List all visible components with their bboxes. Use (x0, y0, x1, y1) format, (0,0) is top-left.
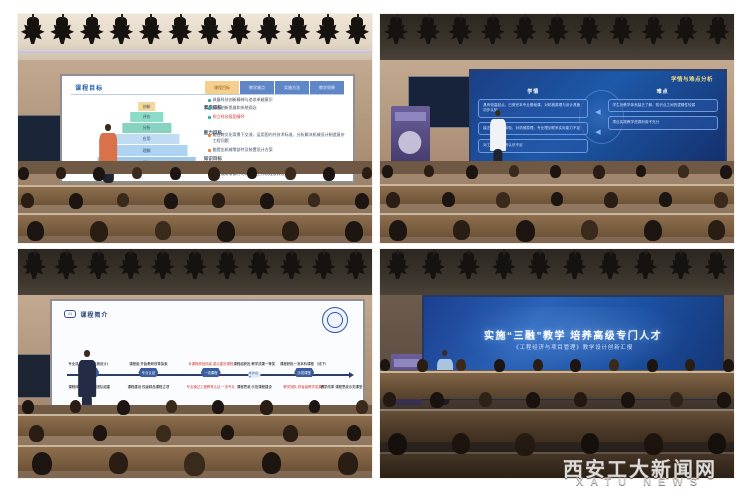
audience-head (22, 400, 34, 414)
stage-light-icon (421, 252, 446, 281)
audience-head (323, 167, 335, 181)
timeline-node: 专业认证 (138, 368, 158, 377)
audience-head (56, 167, 66, 179)
audience-head (347, 425, 361, 441)
audience-head (593, 165, 605, 179)
audience-head (355, 193, 369, 209)
stage-light-icon (609, 17, 634, 46)
stage-light-icon (480, 17, 505, 46)
slide-tab-0: 课程目标 (205, 81, 239, 95)
presenter-head (495, 110, 500, 116)
audience-head (442, 192, 455, 207)
audience-head (494, 359, 505, 372)
photo-top-left: 课程目标 课程目标 教学难点 实施方法 教学效果 创新 评价 分析 应 (18, 14, 372, 243)
slide-tab-3: 教学效果 (310, 81, 344, 95)
audience-head (262, 452, 281, 474)
stage-light-icon (448, 17, 473, 46)
presenter-body (78, 360, 96, 397)
ceiling-light-row (380, 252, 734, 289)
stage-light-icon (183, 252, 208, 281)
stage-light-icon (668, 252, 693, 281)
audience-head (164, 193, 178, 209)
slide-main-title: 实施“三融”教学 培养高级专门人才 (424, 327, 721, 342)
audience-head-row (18, 425, 372, 442)
audience-head (382, 165, 393, 178)
audience-head (570, 359, 581, 372)
stage-light-icon (20, 17, 45, 46)
slide-title: 课程目标 (71, 83, 103, 92)
stage-light-icon (79, 17, 104, 46)
audience-head (533, 359, 543, 371)
audience-head-row (18, 221, 372, 242)
audience-head (90, 221, 108, 242)
audience-head (29, 425, 44, 442)
audience-head (466, 165, 478, 179)
audience-head-row (18, 193, 372, 209)
timeline-caption-above: 课程获批一流本科课程 （线下） (274, 362, 334, 367)
timeline-node: 教学改革 (248, 372, 261, 378)
timeline-caption-below: 课程建设 校级精品课程立项 (118, 385, 178, 390)
bullet-item: 培养创新思维和系统观念 (208, 105, 347, 111)
audience-head (456, 359, 466, 371)
stage-light-icon (562, 252, 587, 281)
bullet-text: 树立科技报国情怀 (213, 114, 245, 120)
slide-title: 课程简介 (80, 310, 108, 319)
stage-light-icon (456, 252, 481, 281)
audience-head (170, 167, 181, 180)
stage-light-icon (118, 252, 143, 281)
audience-head-row (380, 192, 734, 208)
stage-light-icon (150, 252, 175, 281)
lectern (391, 106, 430, 166)
audience-head (260, 193, 274, 209)
audience-head (496, 192, 510, 208)
timeline-node: 一流课程 (201, 368, 221, 377)
audience-head (21, 193, 34, 208)
photo-bottom-left: 01 课程简介 课程开设 专业认证 一流课程 教学改革 示范课堂 专业成立 开设… (18, 249, 372, 478)
audience-head (647, 359, 658, 372)
audience-head-row (18, 167, 372, 181)
stage-light-icon (247, 252, 272, 281)
audience-head (720, 165, 732, 179)
stage-light-icon (197, 17, 222, 46)
slide-subtitle: 《工程经济与项目管理》教学设计创新汇报 (424, 343, 721, 351)
audience-head (70, 400, 81, 413)
stage-light-icon (345, 17, 370, 46)
timeline-arrow-icon (349, 372, 354, 378)
stage-light-icon (673, 17, 698, 46)
audience-area (18, 165, 372, 243)
audience-head (551, 192, 563, 206)
audience-head (212, 193, 225, 208)
ceiling (18, 14, 372, 60)
ceiling-light-row (18, 252, 372, 289)
audience-head (723, 359, 734, 372)
audience-head (184, 452, 205, 476)
stage-light-icon (384, 17, 409, 46)
ceiling-light-row (380, 17, 734, 54)
photo-top-right: 学情与难点分析 学情 具有较高起点，已修完本专业基础课，对机械原理与设计具备初步… (380, 14, 734, 243)
stage-light-icon (168, 17, 193, 46)
column-heading: 学情 (478, 88, 588, 95)
audience-head (708, 220, 725, 240)
audience-head (117, 400, 130, 415)
stage-light-icon (705, 17, 730, 46)
audience-area (18, 400, 372, 478)
audience-head (550, 165, 561, 178)
stage-light-icon (279, 252, 304, 281)
audience-head (132, 167, 142, 179)
audience-head-row (18, 400, 372, 415)
audience-head (453, 220, 470, 240)
audience-head (659, 192, 672, 207)
slide-tab-2: 实施方法 (275, 81, 309, 95)
audience-head (714, 192, 728, 208)
stage-light-icon (704, 252, 729, 281)
slide-title: 学情与难点分析 (671, 75, 713, 83)
led-screen: 学情与难点分析 学情 具有较高起点，已修完本专业基础课，对机械原理与设计具备初步… (469, 69, 728, 165)
timeline-caption-below: 教学改革 课程思政示范课堂 (312, 385, 366, 390)
column-heading: 难点 (608, 88, 718, 95)
ceiling (18, 249, 372, 295)
audience-head (166, 400, 177, 413)
audience-head (644, 220, 662, 241)
stage-light-icon (256, 17, 281, 46)
audience-head (604, 192, 618, 208)
section-badge: 01 (64, 310, 76, 318)
stage-light-icon (54, 252, 79, 281)
ceiling-rail (18, 50, 372, 53)
photo-vignette (380, 373, 734, 478)
stage-light-icon (598, 252, 623, 281)
audience-head (260, 400, 273, 415)
audience-head (217, 221, 235, 242)
stage-light-icon (215, 252, 240, 281)
university-logo-icon (322, 307, 348, 333)
timeline-caption-above: 课程组 开始教研改革探索 (118, 362, 178, 367)
slide-learner-analysis: 学情与难点分析 学情 具有较高起点，已修完本专业基础课，对机械原理与设计具备初步… (478, 75, 718, 159)
audience-head (18, 167, 29, 180)
presenter-head (84, 350, 90, 357)
stage-light-icon (545, 17, 570, 46)
audience-head (32, 452, 52, 475)
stage-light-icon (138, 17, 163, 46)
audience-head (247, 167, 257, 179)
stage-light-icon (109, 17, 134, 46)
stage-light-icon (527, 252, 552, 281)
stage-light-icon (315, 17, 340, 46)
stage-light-icon (311, 252, 336, 281)
audience-head-row (18, 452, 372, 476)
bullet-item: 树立科技报国情怀 (208, 114, 347, 120)
stage-light-icon (286, 17, 311, 46)
stage-light-icon (491, 252, 516, 281)
audience-head (308, 193, 320, 207)
audience-head (509, 165, 519, 177)
slide-tab-strip: 课程目标 教学难点 实施方法 教学效果 (205, 81, 344, 95)
audience-head (309, 400, 320, 413)
audience-head (516, 220, 535, 242)
audience-area (380, 165, 734, 243)
audience-head-row (380, 220, 734, 242)
audience-head-row (380, 359, 734, 372)
audience-head-row (380, 165, 734, 179)
lecture-hall-scene: 01 课程简介 课程开设 专业认证 一流课程 教学改革 示范课堂 专业成立 开设… (18, 249, 372, 478)
audience-head (117, 193, 129, 207)
ceiling-light-row (18, 17, 372, 54)
audience-head (678, 165, 689, 178)
audience-head (155, 221, 171, 240)
audience-head (93, 167, 105, 181)
audience-head (69, 193, 83, 209)
presenter-figure (490, 110, 506, 165)
audience-head (417, 359, 428, 372)
audience-head (380, 359, 390, 371)
ceiling (380, 249, 734, 295)
stage-light-icon (577, 17, 602, 46)
bullet-text: 具备科技创新精神与追求卓越意识 (213, 97, 273, 103)
stage-light-icon (641, 17, 666, 46)
timeline-node: 示范课堂 (294, 368, 314, 377)
stage-light-icon (385, 252, 410, 281)
analysis-card: 学生对教学体系缺乏了解，知识点之间的逻辑性较弱 (608, 99, 718, 112)
audience-head (93, 425, 107, 441)
screenshot-root: 课程目标 课程目标 教学难点 实施方法 教学效果 创新 评价 分析 应 (0, 0, 752, 497)
left-arrow-icon: ◀ (592, 108, 604, 116)
lectern-nameplate (395, 112, 426, 122)
audience-head (156, 425, 171, 442)
audience-head (221, 425, 234, 440)
audience-head (212, 400, 224, 414)
audience-head (345, 221, 363, 242)
photo-bottom-right: 实施“三融”教学 培养高级专门人才 《工程经济与项目管理》教学设计创新汇报 (380, 249, 734, 478)
stage-light-icon (512, 17, 537, 46)
audience-head (282, 221, 299, 241)
audience-head (609, 359, 619, 371)
stage-light-icon (86, 252, 111, 281)
lecture-hall-scene: 学情与难点分析 学情 具有较高起点，已修完本专业基础课，对机械原理与设计具备初步… (380, 14, 734, 243)
stage-light-icon (633, 252, 658, 281)
left-arrow-icon: ◀ (592, 128, 604, 136)
presenter-body (490, 119, 506, 151)
ceiling (380, 14, 734, 60)
lecture-hall-scene: 实施“三融”教学 培养高级专门人才 《工程经济与项目管理》教学设计创新汇报 (380, 249, 734, 478)
presenter-head (442, 350, 447, 356)
audience-head (685, 359, 695, 371)
audience-head (424, 165, 434, 177)
stage-light-icon (50, 17, 75, 46)
photo-collage: 课程目标 课程目标 教学难点 实施方法 教学效果 创新 评价 分析 应 (18, 14, 734, 478)
bullet-item: 能在跨文化背景下交流，运用国内外技术标准、分析解决机械设计制造复杂工程问题 (208, 132, 347, 144)
audience-head (27, 221, 44, 241)
audience-head (208, 167, 220, 181)
audience-head (283, 425, 298, 442)
lecture-hall-scene: 课程目标 课程目标 教学难点 实施方法 教学效果 创新 评价 分析 应 (18, 14, 372, 243)
audience-head (362, 167, 372, 179)
audience-head (285, 167, 296, 180)
audience-head (356, 400, 368, 414)
bullet-item: 能提出机械零部件及装置设计方案 (208, 147, 347, 153)
slide-header: 01 课程简介 (64, 310, 108, 319)
bullet-text: 能在跨文化背景下交流，运用国内外技术标准、分析解决机械设计制造复杂工程问题 (213, 132, 347, 144)
stage-light-icon (227, 17, 252, 46)
analysis-card: 项目实践教学资源利用不充分 (608, 116, 718, 129)
side-monitor (18, 354, 52, 397)
bullet-item: 具备科技创新精神与追求卓越意识 (208, 97, 347, 103)
university-emblem-icon (398, 131, 421, 154)
audience-head (581, 220, 598, 240)
audience-head (389, 220, 407, 241)
bullet-text: 能提出机械零部件及装置设计方案 (213, 147, 273, 153)
stage-light-icon (416, 17, 441, 46)
audience-head (636, 165, 646, 177)
audience-head (109, 452, 128, 474)
audience-head (338, 452, 358, 475)
slide-tab-1: 教学难点 (240, 81, 274, 95)
slide-column-right: 难点 学生对教学体系缺乏了解，知识点之间的逻辑性较弱 项目实践教学资源利用不充分 (608, 88, 718, 157)
audience-head (386, 192, 400, 208)
bullet-text: 培养创新思维和系统观念 (213, 105, 257, 111)
stage-light-icon (22, 252, 47, 281)
presenter-head (105, 124, 111, 131)
stage-light-icon (343, 252, 368, 281)
